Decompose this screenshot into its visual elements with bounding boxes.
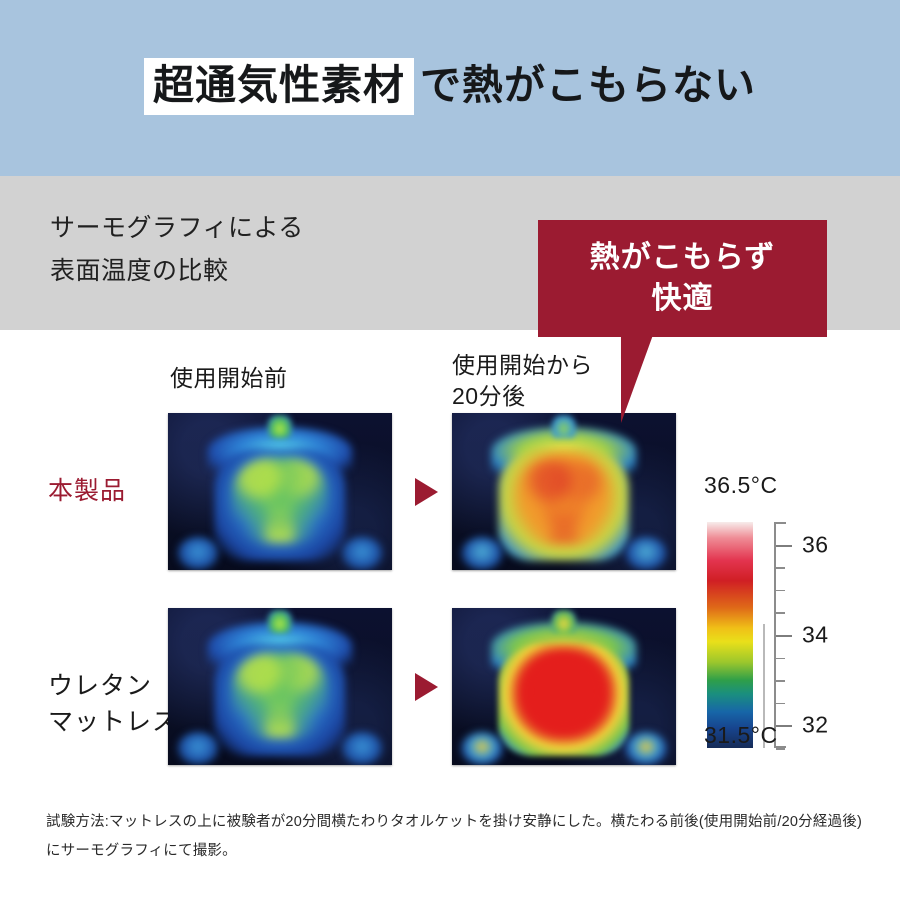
column-caption-before: 使用開始前	[170, 363, 288, 394]
scale-tick-minor	[776, 590, 785, 592]
thermal-image-urethane-before	[168, 608, 392, 765]
torso-core-hotspots	[517, 458, 611, 544]
scale-min-label: 31.5°C	[704, 722, 778, 749]
torso-core-hotspots	[233, 653, 327, 739]
torso-hip-right	[341, 537, 383, 569]
torso-hip-right	[625, 537, 667, 569]
headline-rest: で熱がこもらない	[420, 58, 756, 113]
temperature-color-scale: 36.5°C 363432 31.5°C	[690, 472, 890, 777]
torso-neck	[268, 610, 292, 634]
row-label-urethane-line-2: マットレス	[48, 704, 178, 740]
color-gradient-bar	[707, 522, 753, 748]
scale-tick-label: 36	[802, 531, 829, 558]
scale-max-label: 36.5°C	[704, 472, 778, 499]
headline-highlight: 超通気性素材	[144, 58, 414, 115]
page-headline: 超通気性素材で熱がこもらない	[0, 58, 900, 115]
promo-page: 超通気性素材で熱がこもらない サーモグラフィによる 表面温度の比較 熱がこもらず…	[0, 0, 900, 900]
column-caption-after: 使用開始から 20分後	[452, 350, 593, 412]
torso-neck	[268, 415, 292, 439]
torso-neck	[552, 415, 576, 439]
thermal-image-product-after	[452, 413, 676, 570]
row-label-product: 本製品	[48, 473, 126, 509]
torso-core-hotspots	[517, 653, 611, 739]
torso-core-hotspots	[233, 458, 327, 544]
scale-tick-minor	[776, 680, 785, 682]
scale-tick-major	[776, 725, 792, 727]
torso-hip-left	[461, 537, 503, 569]
thermal-image-product-before	[168, 413, 392, 570]
thermal-torso	[211, 419, 350, 567]
torso-hip-left	[461, 732, 503, 764]
callout-bubble: 熱がこもらず 快適	[538, 220, 827, 337]
scale-tick-minor	[776, 658, 785, 660]
callout-line-1: 熱がこもらず	[538, 237, 827, 278]
column-caption-after-line-1: 使用開始から	[452, 350, 593, 381]
scale-tick-minor	[776, 703, 785, 705]
scale-tick-major	[776, 545, 792, 547]
callout-tail	[599, 335, 653, 423]
torso-neck	[552, 610, 576, 634]
subtitle-line-2: 表面温度の比較	[50, 250, 304, 293]
scale-tick-minor	[776, 567, 785, 569]
thermal-image-urethane-after	[452, 608, 676, 765]
torso-hip-right	[625, 732, 667, 764]
scale-tick-minor	[776, 612, 785, 614]
row-label-urethane-line-1: ウレタン	[48, 668, 178, 704]
arrow-right-icon-bottom	[415, 673, 438, 701]
thermal-torso	[495, 419, 634, 567]
callout-text: 熱がこもらず 快適	[538, 237, 827, 319]
thermal-torso	[495, 614, 634, 762]
scale-tick-label: 32	[802, 712, 829, 739]
scale-tick-major	[776, 635, 792, 637]
section-subtitle: サーモグラフィによる 表面温度の比較	[50, 207, 304, 293]
scale-tick-label: 34	[802, 622, 829, 649]
column-caption-after-line-2: 20分後	[452, 381, 593, 412]
arrow-right-icon-top	[415, 478, 438, 506]
scale-tick-minor	[776, 522, 785, 524]
callout-line-2: 快適	[538, 278, 827, 319]
torso-hip-left	[177, 732, 219, 764]
subtitle-line-1: サーモグラフィによる	[50, 207, 304, 250]
row-label-urethane: ウレタン マットレス	[48, 668, 178, 741]
torso-hip-right	[341, 732, 383, 764]
footnote-text: 試験方法:マットレスの上に被験者が20分間横たわりタオルケットを掛け安静にした。…	[46, 808, 864, 866]
torso-hip-left	[177, 537, 219, 569]
thermal-torso	[211, 614, 350, 762]
